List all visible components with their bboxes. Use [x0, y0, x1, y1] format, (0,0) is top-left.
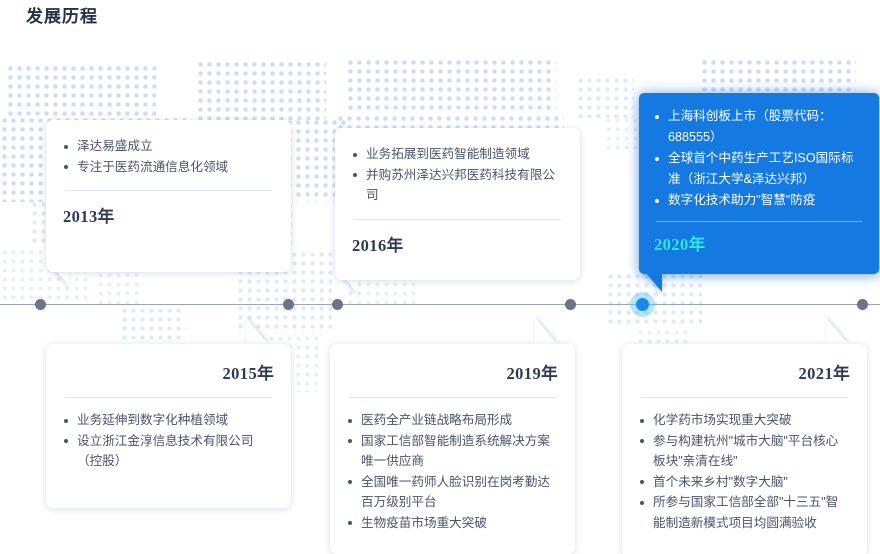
milestone-bullets-2021: 化学药市场实现重大突破 参与构建杭州"城市大脑"平台核心板块"亲清在线" 首个未…: [639, 410, 850, 533]
milestone-year-2021: 2021年: [639, 360, 850, 384]
list-item: 国家工信部智能制造系统解决方案唯一供应商: [347, 431, 558, 472]
card-divider: [349, 397, 556, 398]
timeline-dot-2013[interactable]: [35, 299, 46, 310]
card-divider: [641, 397, 848, 398]
milestone-bullets-2013: 泽达易盛成立 专注于医药流通信息化领域: [63, 136, 274, 177]
list-item: 设立浙江金淳信息技术有限公司（控股）: [63, 431, 274, 472]
timeline-dot-2019[interactable]: [565, 299, 576, 310]
list-item: 全国唯一药师人脸识别在岗考勤达百万级别平台: [347, 472, 558, 513]
milestone-bullets-2016: 业务拓展到医药智能制造领域 并购苏州泽达兴邦医药科技有限公司: [352, 144, 563, 206]
milestone-card-2021-body: 2021年 化学药市场实现重大突破 参与构建杭州"城市大脑"平台核心板块"亲清在…: [622, 344, 867, 547]
milestone-year-2013: 2013年: [63, 203, 274, 227]
list-item: 业务延伸到数字化种植领域: [63, 410, 274, 431]
list-item: 首个未来乡村"数字大脑": [639, 472, 850, 493]
milestone-year-2019: 2019年: [347, 360, 558, 384]
card-divider: [65, 190, 272, 191]
timeline-dot-2016[interactable]: [332, 299, 343, 310]
milestone-card-2015[interactable]: 2015年 业务延伸到数字化种植领域 设立浙江金淳信息技术有限公司（控股）: [46, 344, 291, 508]
milestone-card-2019-body: 2019年 医药全产业链战略布局形成 国家工信部智能制造系统解决方案唯一供应商 …: [330, 344, 575, 547]
milestone-card-2021[interactable]: 2021年 化学药市场实现重大突破 参与构建杭州"城市大脑"平台核心板块"亲清在…: [622, 344, 867, 554]
timeline-dot-2015[interactable]: [283, 299, 294, 310]
card-tail-2019: [535, 318, 557, 344]
list-item: 业务拓展到医药智能制造领域: [352, 144, 563, 165]
milestone-year-2015: 2015年: [63, 360, 274, 384]
timeline-page: 发展历程: [0, 0, 880, 554]
list-item: 化学药市场实现重大突破: [639, 410, 850, 431]
list-item: 并购苏州泽达兴邦医药科技有限公司: [352, 165, 563, 206]
list-item: 生物疫苗市场重大突破: [347, 513, 558, 534]
list-item: 所参与国家工信部全部"十三五"智能制造新模式项目均圆满验收: [639, 492, 850, 533]
timeline-dot-2020[interactable]: [636, 298, 649, 311]
card-tail-2021: [826, 318, 848, 344]
milestone-bullets-2015: 业务延伸到数字化种植领域 设立浙江金淳信息技术有限公司（控股）: [63, 410, 274, 472]
milestone-year-2016: 2016年: [352, 232, 563, 256]
milestone-card-2019[interactable]: 2019年 医药全产业链战略布局形成 国家工信部智能制造系统解决方案唯一供应商 …: [330, 344, 575, 554]
milestone-card-2015-body: 2015年 业务延伸到数字化种植领域 设立浙江金淳信息技术有限公司（控股）: [46, 344, 291, 486]
list-item: 泽达易盛成立: [63, 136, 274, 157]
milestone-card-2013[interactable]: 泽达易盛成立 专注于医药流通信息化领域 2013年: [46, 120, 291, 272]
list-item: 医药全产业链战略布局形成: [347, 410, 558, 431]
milestone-card-2020-body: 上海科创板上市（股票代码：688555） 全球首个中药生产工艺ISO国际标准（浙…: [639, 93, 879, 267]
card-divider: [65, 397, 272, 398]
list-item: 参与构建杭州"城市大脑"平台核心板块"亲清在线": [639, 431, 850, 472]
milestone-card-2016-body: 业务拓展到医药智能制造领域 并购苏州泽达兴邦医药科技有限公司 2016年: [335, 128, 580, 270]
milestone-year-2020: 2020年: [654, 231, 864, 255]
list-item: 专注于医药流通信息化领域: [63, 157, 274, 178]
milestone-card-2016[interactable]: 业务拓展到医药智能制造领域 并购苏州泽达兴邦医药科技有限公司 2016年: [335, 128, 580, 280]
card-divider: [354, 219, 561, 220]
milestone-card-2013-body: 泽达易盛成立 专注于医药流通信息化领域 2013年: [46, 120, 291, 241]
milestone-card-2020[interactable]: 上海科创板上市（股票代码：688555） 全球首个中药生产工艺ISO国际标准（浙…: [639, 93, 879, 274]
timeline-dot-2013-end[interactable]: [857, 299, 868, 310]
list-item: 上海科创板上市（股票代码：688555）: [654, 106, 864, 148]
page-title: 发展历程: [26, 4, 98, 30]
list-item: 数字化技术助力"智慧"防疫: [654, 190, 864, 211]
timeline-axis: [0, 304, 880, 305]
milestone-bullets-2020: 上海科创板上市（股票代码：688555） 全球首个中药生产工艺ISO国际标准（浙…: [654, 106, 864, 211]
list-item: 全球首个中药生产工艺ISO国际标准（浙江大学&泽达兴邦）: [654, 148, 864, 190]
card-divider: [656, 221, 862, 222]
card-tail-2015: [246, 318, 268, 344]
milestone-bullets-2019: 医药全产业链战略布局形成 国家工信部智能制造系统解决方案唯一供应商 全国唯一药师…: [347, 410, 558, 533]
